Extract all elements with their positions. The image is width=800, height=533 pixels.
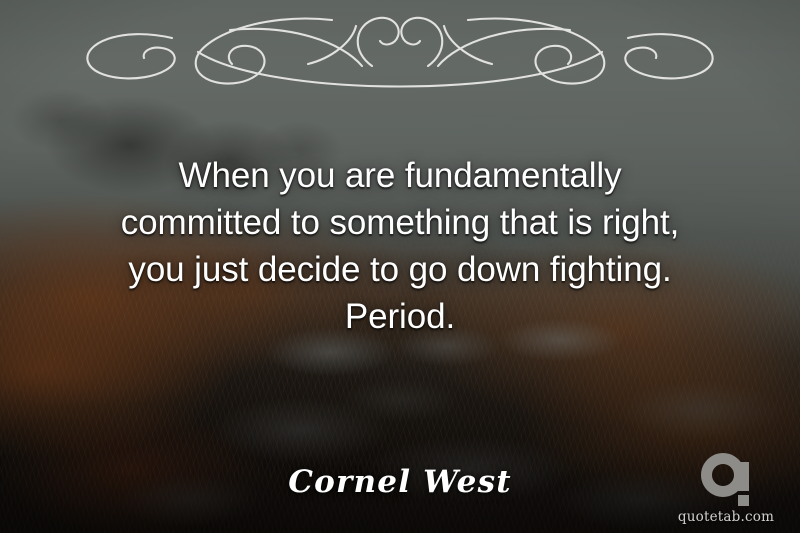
quote-line: Period. — [32, 293, 768, 340]
quote-card: When you are fundamentally committed to … — [0, 0, 800, 533]
author-name: Cornel West — [0, 462, 800, 502]
quote-line: committed to something that is right, — [32, 199, 768, 246]
quote-text: When you are fundamentally committed to … — [0, 152, 800, 340]
quote-line: you just decide to go down fighting. — [32, 246, 768, 293]
quote-line: When you are fundamentally — [32, 152, 768, 199]
